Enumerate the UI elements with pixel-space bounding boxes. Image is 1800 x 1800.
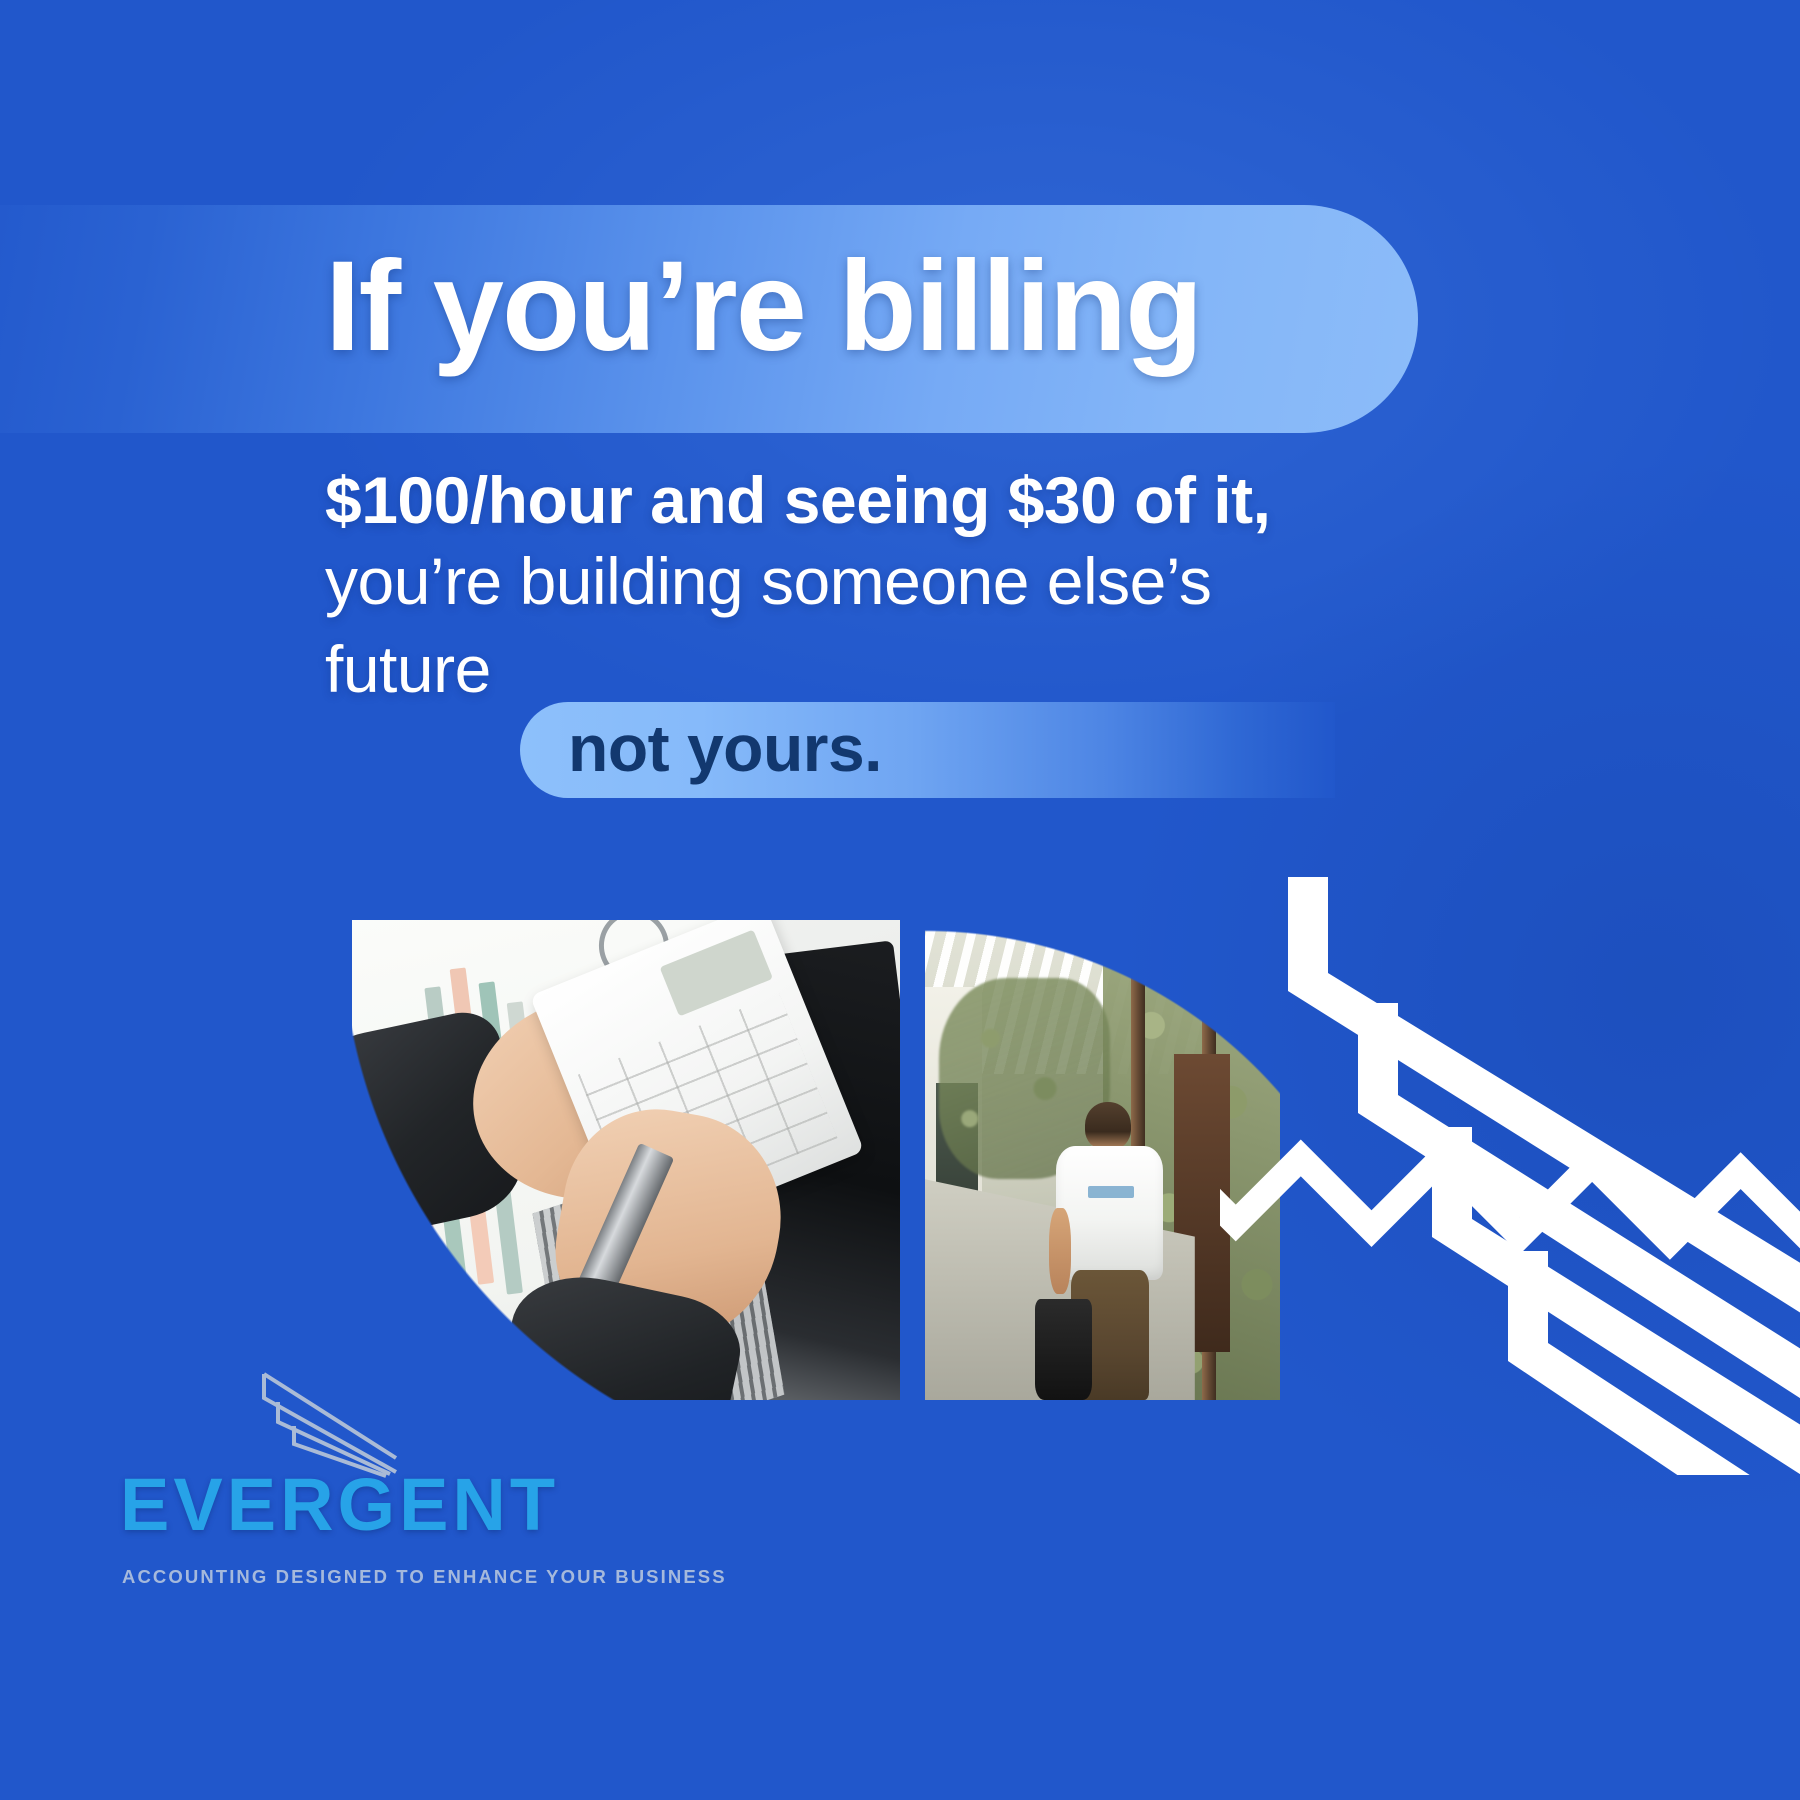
logo-wordmark: EVERGENT xyxy=(120,1462,559,1547)
photo-walking-employee-content xyxy=(925,920,1280,1400)
subheading-line-2: you’re building someone else’s xyxy=(325,541,1505,622)
photo-accountant-calculator xyxy=(352,920,900,1400)
highlight-text: not yours. xyxy=(568,710,882,786)
photo-walking-employee xyxy=(925,920,1280,1400)
subheading-line-1: $100/hour and seeing $30 of it, xyxy=(325,460,1505,541)
subheading-block: $100/hour and seeing $30 of it, you’re b… xyxy=(325,460,1505,717)
logo-tagline: ACCOUNTING DESIGNED TO ENHANCE YOUR BUSI… xyxy=(122,1566,727,1588)
wing-decoration-icon xyxy=(1220,855,1800,1475)
photo-accountant-calculator-content xyxy=(352,920,900,1400)
subheading-line-3-prefix: future xyxy=(325,631,491,707)
page-title: If you’re billing xyxy=(325,243,1385,371)
social-post-canvas: If you’re billing $100/hour and seeing $… xyxy=(0,0,1800,1800)
